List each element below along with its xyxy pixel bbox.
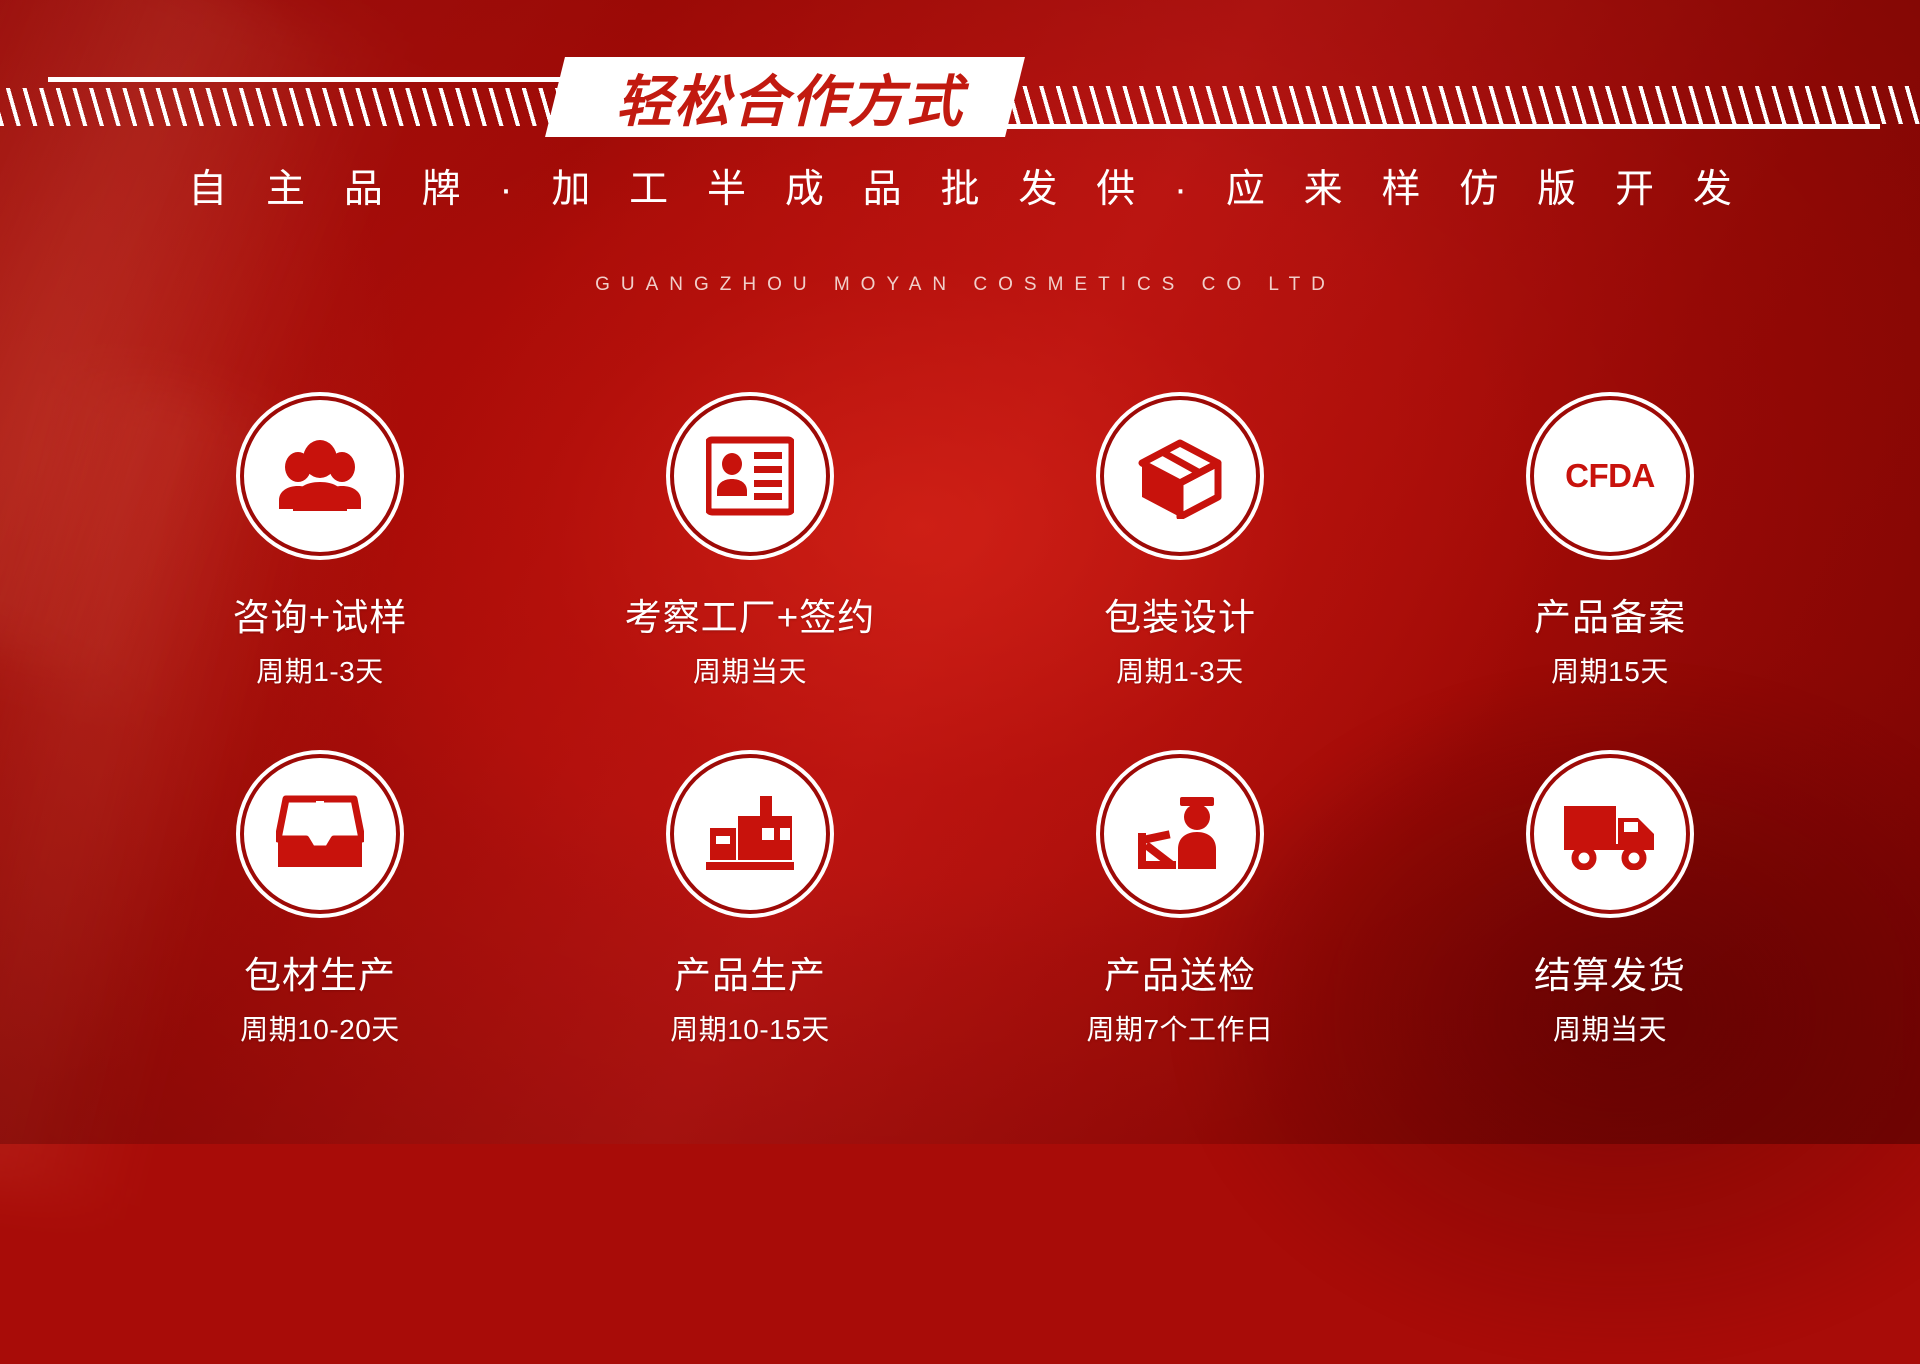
process-step-grid: 咨询+试样 周期1-3天 考察工厂+签约 周期当天	[105, 400, 1825, 1048]
step-title: 产品生产	[674, 945, 826, 999]
diagonal-stripes-icon	[1000, 86, 1920, 124]
step-badge	[1104, 400, 1256, 552]
step-duration: 周期10-20天	[240, 1008, 400, 1048]
process-step[interactable]: 包材生产 周期10-20天	[105, 758, 535, 1048]
header-rule-left	[48, 77, 593, 82]
process-step[interactable]: 考察工厂+签约 周期当天	[535, 400, 965, 690]
step-badge	[1534, 758, 1686, 910]
subtitle-english: GUANGZHOU MOYAN COSMETICS CO LTD	[0, 274, 1920, 296]
step-duration: 周期10-15天	[670, 1008, 830, 1048]
step-badge	[674, 400, 826, 552]
step-title: 考察工厂+签约	[625, 587, 876, 641]
cfda-badge-icon: CFDA	[1565, 457, 1655, 495]
step-duration: 周期7个工作日	[1086, 1008, 1273, 1048]
step-badge	[1104, 758, 1256, 910]
step-duration: 周期1-3天	[1116, 650, 1243, 690]
delivery-truck-icon	[1562, 798, 1658, 870]
step-title: 产品送检	[1104, 945, 1256, 999]
step-title: 包材生产	[244, 945, 396, 999]
header-rule-right	[1000, 124, 1880, 129]
step-title: 产品备案	[1534, 587, 1686, 641]
step-duration: 周期15天	[1551, 650, 1669, 690]
step-duration: 周期当天	[693, 650, 807, 690]
step-badge	[244, 758, 396, 910]
inspector-icon	[1136, 793, 1224, 875]
process-step[interactable]: 产品生产 周期10-15天	[535, 758, 965, 1048]
step-title: 咨询+试样	[233, 587, 408, 641]
header-banner: 轻松合作方式	[0, 0, 1920, 150]
process-step[interactable]: CFDA 产品备案 周期15天	[1395, 400, 1825, 690]
step-badge	[674, 758, 826, 910]
step-badge	[244, 400, 396, 552]
step-title: 结算发货	[1534, 945, 1686, 999]
process-step[interactable]: 包装设计 周期1-3天	[965, 400, 1395, 690]
subtitle-chinese: 自 主 品 牌 · 加 工 半 成 品 批 发 供 · 应 来 样 仿 版 开 …	[0, 158, 1920, 214]
factory-icon	[704, 794, 796, 874]
inbox-download-icon	[276, 793, 364, 875]
process-step[interactable]: 咨询+试样 周期1-3天	[105, 400, 535, 690]
process-step[interactable]: 结算发货 周期当天	[1395, 758, 1825, 1048]
people-group-icon	[275, 439, 365, 513]
step-duration: 周期1-3天	[256, 650, 383, 690]
id-card-icon	[706, 436, 794, 516]
process-step[interactable]: 产品送检 周期7个工作日	[965, 758, 1395, 1048]
page-title: 轻松合作方式	[575, 55, 1005, 139]
step-duration: 周期当天	[1553, 1008, 1667, 1048]
step-badge: CFDA	[1534, 400, 1686, 552]
diagonal-stripes-icon	[0, 88, 560, 126]
open-box-icon	[1134, 433, 1226, 519]
step-title: 包装设计	[1104, 587, 1256, 641]
